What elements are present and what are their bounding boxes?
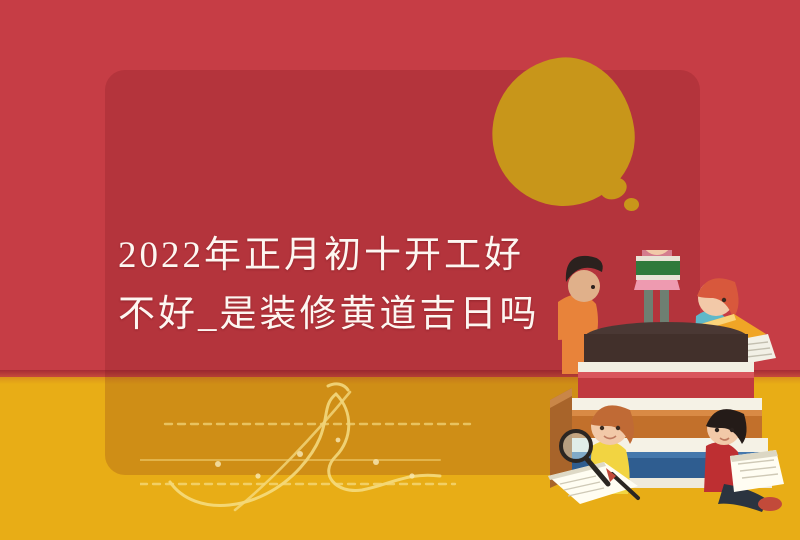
thought-bubble-dot-small-icon [624, 198, 639, 211]
page-title: 2022年正月初十开工好不好_是装修黄道吉日吗 [118, 226, 638, 344]
page-title-line-1: 2022年正月初十开工好 [118, 235, 524, 276]
boy-red-shirt-reading [704, 409, 784, 512]
banner-image: 2022年正月初十开工好不好_是装修黄道吉日吗 [0, 0, 800, 540]
swirl-flourish-icon [140, 372, 480, 532]
page-title-line-2: 不好_是装修黄道吉日吗 [118, 294, 540, 335]
